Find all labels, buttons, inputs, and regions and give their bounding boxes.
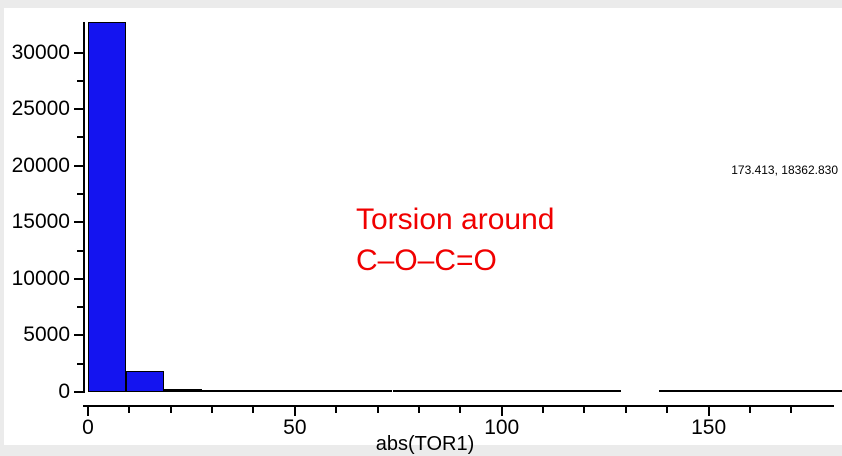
histogram-bar	[316, 390, 354, 392]
x-axis-tick	[501, 407, 503, 416]
histogram-bar	[202, 390, 240, 392]
y-axis-tick-label: 10000	[4, 268, 70, 289]
y-axis-tick	[74, 165, 83, 167]
histogram-bar	[697, 390, 735, 392]
x-axis-minor-tick	[128, 407, 130, 413]
histogram-bar	[469, 390, 507, 392]
x-axis-minor-tick	[666, 407, 668, 413]
y-axis-tick	[74, 278, 83, 280]
y-axis-minor-tick	[77, 363, 83, 365]
coordinate-readout: 173.413, 18362.830	[731, 163, 838, 177]
y-axis-tick-label: 0	[4, 381, 70, 402]
y-axis-minor-tick	[77, 193, 83, 195]
x-axis-minor-tick	[170, 407, 172, 413]
histogram-bar	[354, 390, 392, 392]
x-axis-minor-tick	[211, 407, 213, 413]
x-axis-minor-tick	[335, 407, 337, 413]
annotation-line-1: Torsion around	[356, 203, 554, 236]
x-axis-minor-tick	[542, 407, 544, 413]
chart-annotation: Torsion aroundC–O–C=O	[356, 200, 554, 281]
histogram-bar	[240, 390, 278, 392]
histogram-bar	[164, 389, 202, 392]
x-axis-minor-tick	[583, 407, 585, 413]
y-axis-tick-label: 5000	[4, 324, 70, 345]
x-axis-tick	[87, 407, 89, 416]
histogram-bar	[88, 22, 126, 392]
y-axis-minor-tick	[77, 80, 83, 82]
y-axis-tick	[74, 52, 83, 54]
plot-window: 050001000015000200002500030000050100150 …	[0, 0, 842, 455]
x-axis-tick	[294, 407, 296, 416]
histogram-bar	[431, 390, 469, 392]
histogram-bar	[393, 390, 431, 392]
y-axis-tick	[74, 391, 83, 393]
x-axis-minor-tick	[252, 407, 254, 413]
plot-canvas: 050001000015000200002500030000050100150 …	[4, 8, 842, 445]
x-axis-minor-tick	[377, 407, 379, 413]
histogram-bar	[126, 371, 164, 392]
histogram-bar	[811, 390, 842, 392]
y-axis-tick	[74, 221, 83, 223]
y-axis-minor-tick	[77, 306, 83, 308]
x-axis-title: abs(TOR1)	[4, 433, 842, 456]
y-axis-tick-label: 30000	[4, 42, 70, 63]
x-axis-tick	[708, 407, 710, 416]
histogram-bar	[583, 390, 621, 392]
y-axis-tick-label: 25000	[4, 98, 70, 119]
x-axis-minor-tick	[418, 407, 420, 413]
x-axis-minor-tick	[749, 407, 751, 413]
histogram-bar	[545, 390, 583, 392]
y-axis-tick-label: 15000	[4, 211, 70, 232]
histogram-bar	[278, 390, 316, 392]
x-axis-minor-tick	[625, 407, 627, 413]
x-axis-minor-tick	[790, 407, 792, 413]
x-axis-minor-tick	[459, 407, 461, 413]
y-axis-minor-tick	[77, 250, 83, 252]
histogram-bar	[735, 390, 773, 392]
y-axis-tick-label: 20000	[4, 155, 70, 176]
y-axis-tick	[74, 108, 83, 110]
annotation-line-2: C–O–C=O	[356, 241, 554, 282]
histogram-bar	[507, 390, 545, 392]
y-axis-tick	[74, 334, 83, 336]
histogram-bar	[773, 390, 811, 392]
y-axis-minor-tick	[77, 136, 83, 138]
histogram-bar	[659, 390, 697, 392]
